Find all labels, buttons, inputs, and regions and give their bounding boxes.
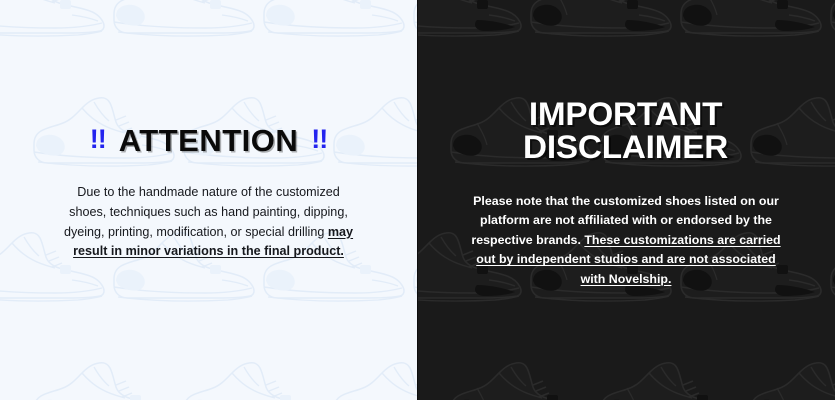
dual-notice-banner: !! ATTENTION !! Due to the handmade natu… bbox=[0, 0, 835, 400]
disclaimer-title-line-2: DISCLAIMER bbox=[523, 131, 728, 164]
disclaimer-title-line-1: IMPORTANT bbox=[523, 98, 728, 131]
disclaimer-content: IMPORTANT DISCLAIMER Please note that th… bbox=[417, 0, 835, 400]
attention-panel: !! ATTENTION !! Due to the handmade natu… bbox=[0, 0, 417, 400]
double-exclamation-right-icon: !! bbox=[311, 126, 327, 153]
disclaimer-panel: IMPORTANT DISCLAIMER Please note that th… bbox=[417, 0, 835, 400]
disclaimer-title: IMPORTANT DISCLAIMER bbox=[523, 98, 728, 163]
panel-divider bbox=[417, 0, 418, 400]
attention-body-plain: Due to the handmade nature of the custom… bbox=[64, 185, 348, 239]
attention-content: !! ATTENTION !! Due to the handmade natu… bbox=[0, 0, 417, 400]
attention-body: Due to the handmade nature of the custom… bbox=[59, 183, 359, 263]
double-exclamation-left-icon: !! bbox=[90, 126, 106, 153]
attention-title: ATTENTION bbox=[119, 125, 299, 156]
attention-heading-row: !! ATTENTION !! bbox=[90, 125, 328, 156]
disclaimer-body: Please note that the customized shoes li… bbox=[466, 192, 786, 290]
